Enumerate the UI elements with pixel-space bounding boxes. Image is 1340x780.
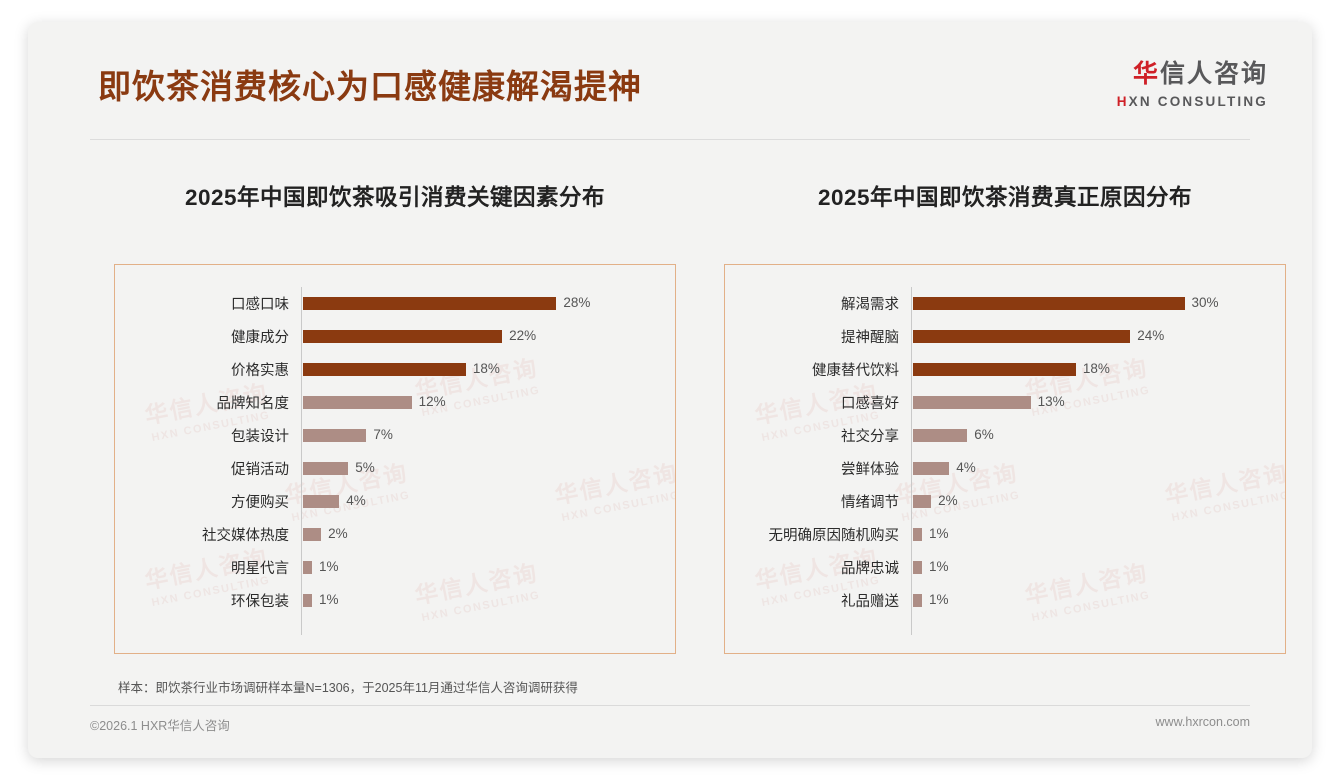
- bar-row: 明星代言1%: [115, 551, 675, 584]
- bar-value-label: 1%: [929, 559, 949, 574]
- bar-category-label: 社交分享: [725, 425, 899, 446]
- bar-value-label: 4%: [956, 460, 976, 475]
- bar-category-label: 口感口味: [115, 293, 289, 314]
- bar-row: 提神醒脑24%: [725, 320, 1285, 353]
- logo-cn-first-char: 华: [1133, 60, 1160, 88]
- logo-english-text: HXN CONSULTING: [1117, 94, 1268, 109]
- bar-value-label: 30%: [1192, 295, 1219, 310]
- bar-value-label: 22%: [509, 328, 536, 343]
- bar-rows-right: 解渴需求30%提神醒脑24%健康替代饮料18%口感喜好13%社交分享6%尝鲜体验…: [725, 265, 1285, 653]
- chart-title-right: 2025年中国即饮茶消费真正原因分布: [700, 180, 1310, 212]
- bar: [303, 330, 502, 343]
- source-note: 样本：即饮茶行业市场调研样本量N=1306，于2025年11月通过华信人咨询调研…: [118, 677, 578, 696]
- bar: [303, 363, 466, 376]
- bar-category-label: 情绪调节: [725, 491, 899, 512]
- bar-value-label: 2%: [328, 526, 348, 541]
- bar-row: 促销活动5%: [115, 452, 675, 485]
- bar-row: 社交分享6%: [725, 419, 1285, 452]
- bar: [913, 528, 922, 541]
- logo-chinese-text: 华信人咨询: [1117, 54, 1268, 90]
- bar-category-label: 礼品赠送: [725, 590, 899, 611]
- page-title: 即饮茶消费核心为口感健康解渴提神: [98, 60, 642, 108]
- bar: [913, 297, 1185, 310]
- bar-row: 包装设计7%: [115, 419, 675, 452]
- header-divider: [90, 139, 1250, 140]
- bar-category-label: 价格实惠: [115, 359, 289, 380]
- bar: [913, 561, 922, 574]
- bar-category-label: 环保包装: [115, 590, 289, 611]
- bar-category-label: 方便购买: [115, 491, 289, 512]
- website-url[interactable]: www.hxrcon.com: [1156, 715, 1250, 729]
- bar: [913, 396, 1031, 409]
- bar-category-label: 无明确原因随机购买: [725, 524, 899, 545]
- bar-row: 品牌知名度12%: [115, 386, 675, 419]
- chart-panel-right: 华信人咨询HXN CONSULTING华信人咨询HXN CONSULTING华信…: [724, 264, 1286, 654]
- company-logo: 华信人咨询 HXN CONSULTING: [1117, 54, 1268, 109]
- bar-category-label: 包装设计: [115, 425, 289, 446]
- bar-row: 口感喜好13%: [725, 386, 1285, 419]
- bar: [913, 363, 1076, 376]
- bar: [913, 330, 1130, 343]
- bar: [303, 297, 556, 310]
- charts-region: 2025年中国即饮茶吸引消费关键因素分布 华信人咨询HXN CONSULTING…: [28, 152, 1312, 662]
- bar: [303, 462, 348, 475]
- bar-value-label: 1%: [929, 526, 949, 541]
- chart-panel-left: 华信人咨询HXN CONSULTING华信人咨询HXN CONSULTING华信…: [114, 264, 676, 654]
- bar-category-label: 促销活动: [115, 458, 289, 479]
- bar: [303, 528, 321, 541]
- footer-divider: [90, 705, 1250, 706]
- bar-category-label: 品牌知名度: [115, 392, 289, 413]
- bar: [303, 429, 366, 442]
- bar-row: 尝鲜体验4%: [725, 452, 1285, 485]
- logo-en-rest: XN CONSULTING: [1129, 94, 1268, 109]
- bar-value-label: 2%: [938, 493, 958, 508]
- bar-value-label: 18%: [1083, 361, 1110, 376]
- bar-row: 环保包装1%: [115, 584, 675, 617]
- bar-value-label: 1%: [929, 592, 949, 607]
- bar-value-label: 18%: [473, 361, 500, 376]
- bar: [303, 495, 339, 508]
- logo-en-first-char: H: [1117, 94, 1129, 109]
- bar-value-label: 13%: [1038, 394, 1065, 409]
- bar-row: 价格实惠18%: [115, 353, 675, 386]
- bar-category-label: 健康成分: [115, 326, 289, 347]
- bar: [913, 594, 922, 607]
- copyright-text: ©2026.1 HXR华信人咨询: [90, 715, 230, 734]
- bar: [303, 396, 412, 409]
- chart-title-left: 2025年中国即饮茶吸引消费关键因素分布: [90, 180, 700, 212]
- bar-row: 口感口味28%: [115, 287, 675, 320]
- bar-row: 无明确原因随机购买1%: [725, 518, 1285, 551]
- bar: [303, 561, 312, 574]
- bar-rows-left: 口感口味28%健康成分22%价格实惠18%品牌知名度12%包装设计7%促销活动5…: [115, 265, 675, 653]
- bar-category-label: 尝鲜体验: [725, 458, 899, 479]
- bar-category-label: 提神醒脑: [725, 326, 899, 347]
- bar-row: 方便购买4%: [115, 485, 675, 518]
- logo-cn-rest: 信人咨询: [1160, 60, 1268, 88]
- bar-category-label: 口感喜好: [725, 392, 899, 413]
- bar-category-label: 明星代言: [115, 557, 289, 578]
- bar: [913, 429, 967, 442]
- slide-header: 即饮茶消费核心为口感健康解渴提神 华信人咨询 HXN CONSULTING: [28, 22, 1312, 118]
- bar-category-label: 健康替代饮料: [725, 359, 899, 380]
- bar-row: 解渴需求30%: [725, 287, 1285, 320]
- bar-value-label: 7%: [373, 427, 393, 442]
- bar-value-label: 4%: [346, 493, 366, 508]
- bar-row: 品牌忠诚1%: [725, 551, 1285, 584]
- bar-value-label: 28%: [563, 295, 590, 310]
- bar-value-label: 5%: [355, 460, 375, 475]
- bar-row: 健康成分22%: [115, 320, 675, 353]
- slide-card: 即饮茶消费核心为口感健康解渴提神 华信人咨询 HXN CONSULTING 20…: [28, 22, 1312, 758]
- chart-column-right: 2025年中国即饮茶消费真正原因分布 华信人咨询HXN CONSULTING华信…: [700, 152, 1310, 662]
- bar-row: 社交媒体热度2%: [115, 518, 675, 551]
- chart-column-left: 2025年中国即饮茶吸引消费关键因素分布 华信人咨询HXN CONSULTING…: [90, 152, 700, 662]
- bar-category-label: 解渴需求: [725, 293, 899, 314]
- bar-value-label: 1%: [319, 559, 339, 574]
- bar-category-label: 品牌忠诚: [725, 557, 899, 578]
- bar-value-label: 24%: [1137, 328, 1164, 343]
- bar: [913, 495, 931, 508]
- bar-category-label: 社交媒体热度: [115, 524, 289, 545]
- bar: [913, 462, 949, 475]
- bar: [303, 594, 312, 607]
- bar-value-label: 12%: [419, 394, 446, 409]
- bar-row: 礼品赠送1%: [725, 584, 1285, 617]
- bar-row: 健康替代饮料18%: [725, 353, 1285, 386]
- bar-value-label: 1%: [319, 592, 339, 607]
- bar-value-label: 6%: [974, 427, 994, 442]
- bar-row: 情绪调节2%: [725, 485, 1285, 518]
